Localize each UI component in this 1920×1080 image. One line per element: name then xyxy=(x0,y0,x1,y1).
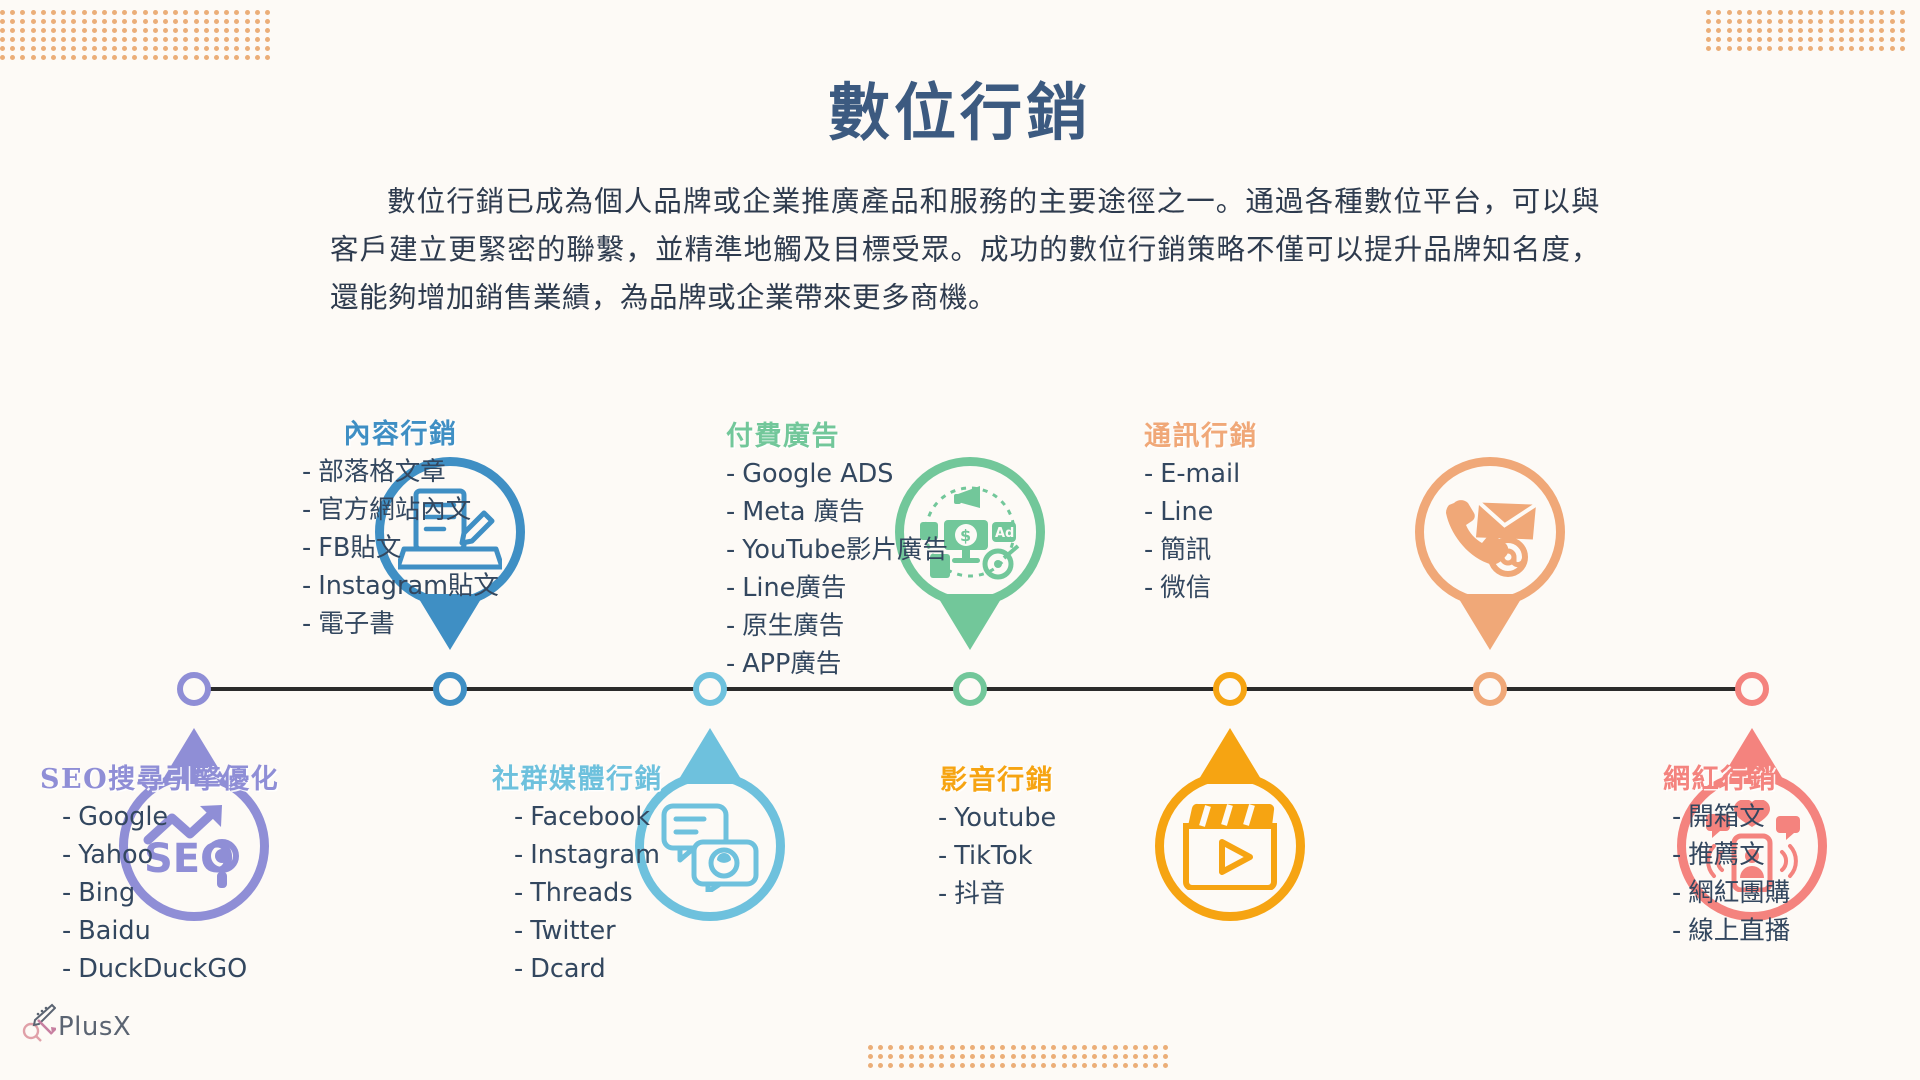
section-heading-seo: SEO搜尋引擎優化 xyxy=(40,757,279,796)
dash-bullet: - xyxy=(62,954,71,984)
list-item: -DuckDuckGO xyxy=(62,950,279,988)
dash-bullet: - xyxy=(302,533,311,563)
list-item: -原生廣告 xyxy=(726,607,948,645)
section-list-content: -部落格文章-官方網站內文-FB貼文-Instagram貼文-電子書 xyxy=(302,453,499,643)
section-list-social: -Facebook-Instagram-Threads-Twitter-Dcar… xyxy=(492,798,663,988)
dash-bullet: - xyxy=(62,840,71,870)
list-item: -Baidu xyxy=(62,912,279,950)
timeline-node-seo[interactable] xyxy=(177,672,211,706)
list-item: -Bing xyxy=(62,874,279,912)
list-item: -抖音 xyxy=(938,875,1056,913)
list-item: -YouTube影片廣告 xyxy=(726,531,948,569)
dash-bullet: - xyxy=(1672,840,1681,870)
dash-bullet: - xyxy=(726,611,735,641)
list-item: -Dcard xyxy=(514,950,663,988)
list-item: -Line xyxy=(1144,493,1258,531)
dash-bullet: - xyxy=(1672,878,1681,908)
dash-bullet: - xyxy=(302,609,311,639)
timeline-block-seo: SEO搜尋引擎優化-Google-Yahoo-Bing-Baidu-DuckDu… xyxy=(40,757,279,988)
list-item: -Line廣告 xyxy=(726,569,948,607)
list-item: -網紅團購 xyxy=(1672,874,1790,912)
list-item: -Twitter xyxy=(514,912,663,950)
list-item: -線上直播 xyxy=(1672,912,1790,950)
timeline-block-messaging: 通訊行銷-E-mail-Line-簡訊-微信 xyxy=(1144,414,1258,607)
list-item: -Threads xyxy=(514,874,663,912)
list-item: -APP廣告 xyxy=(726,645,948,683)
section-list-messaging: -E-mail-Line-簡訊-微信 xyxy=(1144,455,1258,607)
list-item: -開箱文 xyxy=(1672,798,1790,836)
section-heading-video: 影音行銷 xyxy=(938,758,1056,797)
dash-bullet: - xyxy=(302,495,311,525)
timeline-block-social: 社群媒體行銷-Facebook-Instagram-Threads-Twitte… xyxy=(492,757,663,988)
decorative-dots-top-left xyxy=(0,6,275,60)
brand-name: PlusX xyxy=(58,1012,131,1042)
phone-envelope-at-icon xyxy=(1424,466,1556,598)
dash-bullet: - xyxy=(302,457,311,487)
infographic-canvas: 數位行銷 數位行銷已成為個人品牌或企業推廣產品和服務的主要途徑之一。通過各種數位… xyxy=(0,0,1920,1080)
dash-bullet: - xyxy=(1144,459,1153,489)
dash-bullet: - xyxy=(514,802,523,832)
dash-bullet: - xyxy=(726,573,735,603)
list-item: -電子書 xyxy=(302,605,499,643)
dash-bullet: - xyxy=(938,803,947,833)
dash-bullet: - xyxy=(1672,916,1681,946)
brand-logo: PlusX xyxy=(22,1002,131,1042)
section-list-paid-ads: -Google ADS-Meta 廣告-YouTube影片廣告-Line廣告-原… xyxy=(726,455,948,683)
list-item: -Google xyxy=(62,798,279,836)
dash-bullet: - xyxy=(302,571,311,601)
list-item: -簡訊 xyxy=(1144,531,1258,569)
section-list-seo: -Google-Yahoo-Bing-Baidu-DuckDuckGO xyxy=(40,798,279,988)
list-item: -推薦文 xyxy=(1672,836,1790,874)
dash-bullet: - xyxy=(62,916,71,946)
list-item: -Google ADS xyxy=(726,455,948,493)
list-item: -官方網站內文 xyxy=(302,491,499,529)
dash-bullet: - xyxy=(514,916,523,946)
timeline-block-paid-ads: 付費廣告-Google ADS-Meta 廣告-YouTube影片廣告-Line… xyxy=(726,414,948,683)
chat-bubbles-icon xyxy=(644,780,776,912)
timeline-block-influencer: 網紅行銷-開箱文-推薦文-網紅團購-線上直播 xyxy=(1650,757,1790,950)
section-heading-social: 社群媒體行銷 xyxy=(492,757,663,796)
list-item: -Youtube xyxy=(938,799,1056,837)
timeline-pin-messaging[interactable] xyxy=(1415,457,1565,607)
timeline-node-content[interactable] xyxy=(433,672,467,706)
svg-text:$: $ xyxy=(960,526,971,545)
dash-bullet: - xyxy=(726,459,735,489)
pen-magnifier-icon xyxy=(22,1002,56,1042)
timeline-block-video: 影音行銷-Youtube-TikTok-抖音 xyxy=(938,758,1056,913)
timeline-node-influencer[interactable] xyxy=(1735,672,1769,706)
list-item: -部落格文章 xyxy=(302,453,499,491)
dash-bullet: - xyxy=(62,878,71,908)
timeline-node-video[interactable] xyxy=(1213,672,1247,706)
list-item: -FB貼文 xyxy=(302,529,499,567)
timeline-node-messaging[interactable] xyxy=(1473,672,1507,706)
dash-bullet: - xyxy=(1672,802,1681,832)
dash-bullet: - xyxy=(726,649,735,679)
list-item: -Facebook xyxy=(514,798,663,836)
section-list-video: -Youtube-TikTok-抖音 xyxy=(938,799,1056,913)
list-item: -Yahoo xyxy=(62,836,279,874)
timeline-node-paid-ads[interactable] xyxy=(953,672,987,706)
section-heading-influencer: 網紅行銷 xyxy=(1650,757,1790,796)
section-heading-paid-ads: 付費廣告 xyxy=(726,414,948,453)
timeline-node-social[interactable] xyxy=(693,672,727,706)
dash-bullet: - xyxy=(938,841,947,871)
dash-bullet: - xyxy=(514,878,523,908)
dash-bullet: - xyxy=(726,535,735,565)
video-clapper-play-icon xyxy=(1164,780,1296,912)
dash-bullet: - xyxy=(514,954,523,984)
page-title: 數位行銷 xyxy=(0,62,1920,152)
timeline-pin-video[interactable] xyxy=(1155,771,1305,921)
dash-bullet: - xyxy=(62,802,71,832)
dash-bullet: - xyxy=(1144,535,1153,565)
section-heading-content: 內容行銷 xyxy=(302,412,499,451)
list-item: -微信 xyxy=(1144,569,1258,607)
decorative-dots-top-right xyxy=(1706,6,1910,51)
intro-paragraph: 數位行銷已成為個人品牌或企業推廣產品和服務的主要途徑之一。通過各種數位平台，可以… xyxy=(330,178,1600,322)
dash-bullet: - xyxy=(938,879,947,909)
list-item: -Instagram xyxy=(514,836,663,874)
list-item: -Instagram貼文 xyxy=(302,567,499,605)
dash-bullet: - xyxy=(514,840,523,870)
list-item: -Meta 廣告 xyxy=(726,493,948,531)
section-list-influencer: -開箱文-推薦文-網紅團購-線上直播 xyxy=(1650,798,1790,950)
svg-text:Ad: Ad xyxy=(995,526,1014,541)
section-heading-messaging: 通訊行銷 xyxy=(1144,414,1258,453)
dash-bullet: - xyxy=(726,497,735,527)
list-item: -E-mail xyxy=(1144,455,1258,493)
timeline-block-content: 內容行銷-部落格文章-官方網站內文-FB貼文-Instagram貼文-電子書 xyxy=(302,412,499,643)
decorative-dots-bottom xyxy=(868,1041,1174,1068)
dash-bullet: - xyxy=(1144,573,1153,603)
list-item: -TikTok xyxy=(938,837,1056,875)
dash-bullet: - xyxy=(1144,497,1153,527)
